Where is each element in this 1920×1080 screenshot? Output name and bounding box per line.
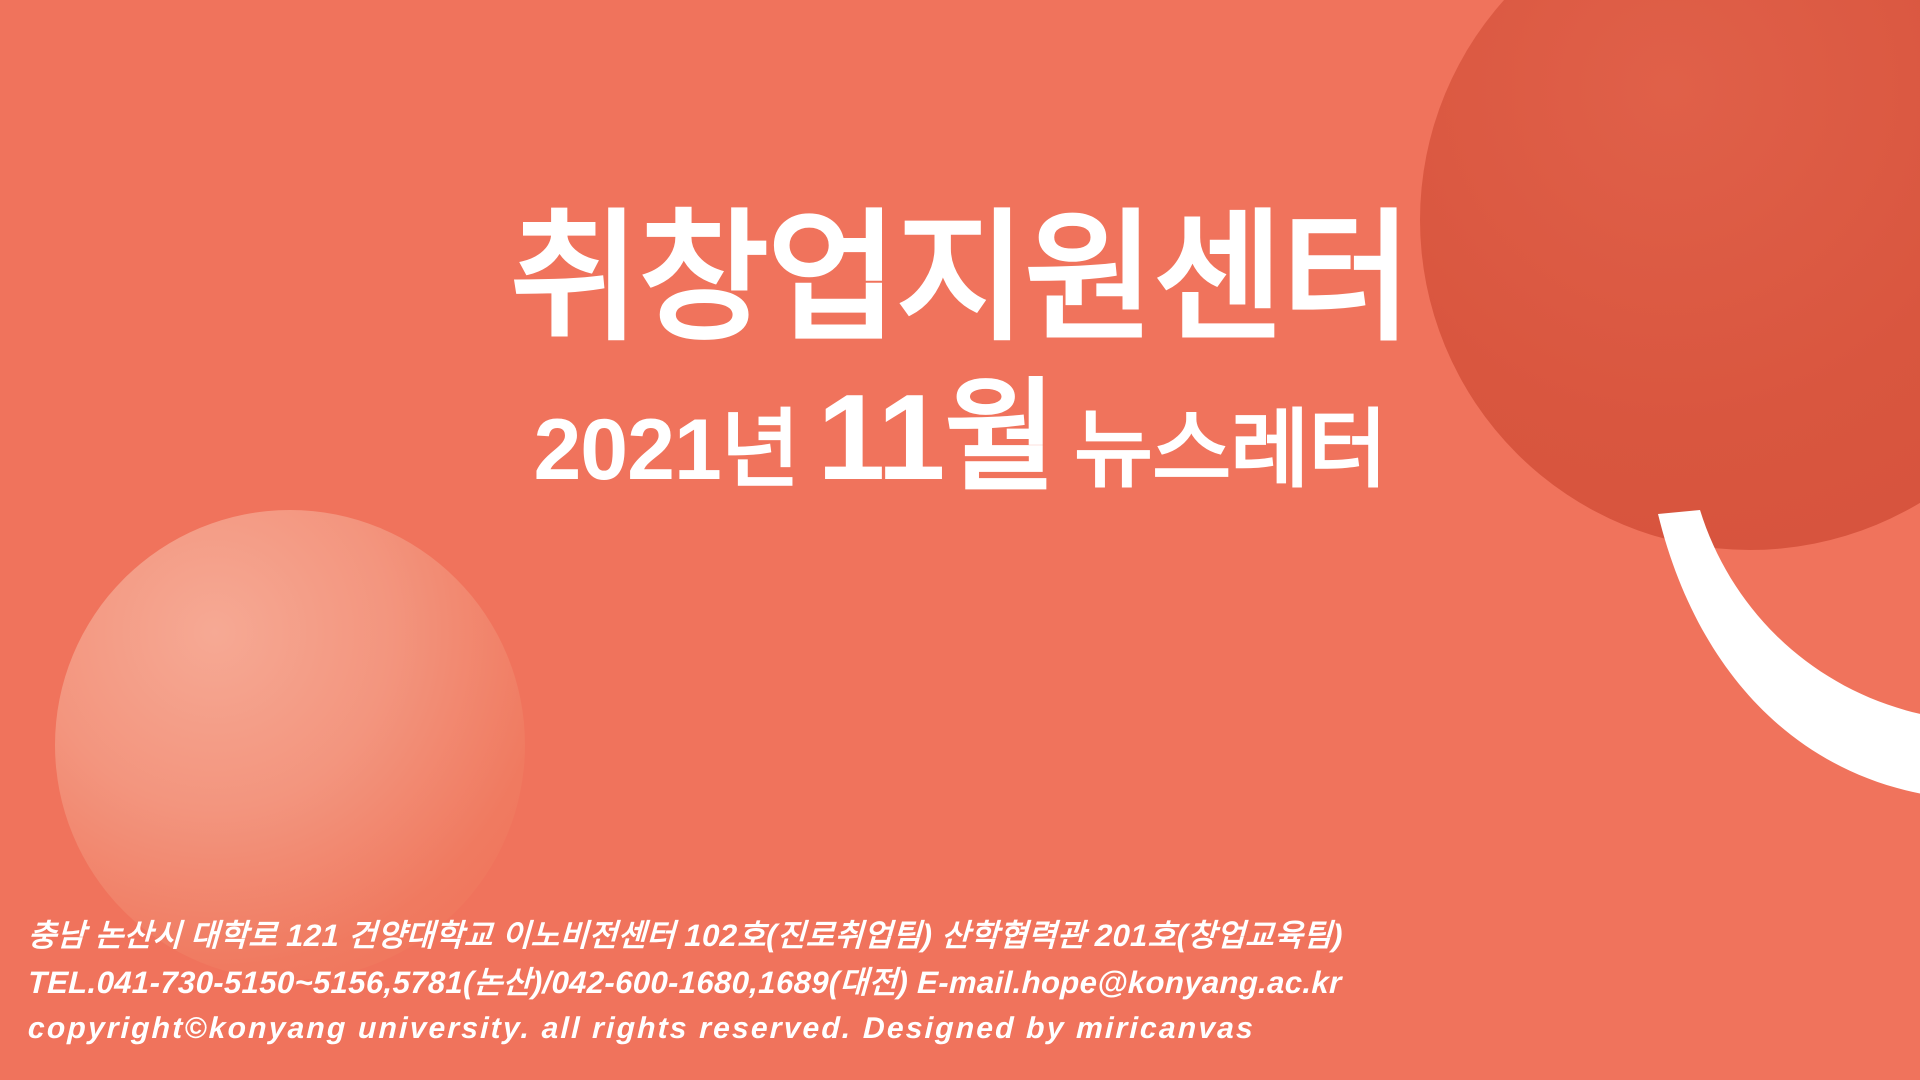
subtitle-newsletter-label: 뉴스레터 bbox=[1074, 402, 1386, 498]
light-circle-icon bbox=[55, 510, 525, 980]
white-crescent-icon bbox=[1540, 470, 1920, 810]
footer-contact: TEL.041-730-5150~5156,5781(논산)/042-600-1… bbox=[27, 959, 1903, 1006]
newsletter-poster: 취창업지원센터 2021년 11월 뉴스레터 충남 논산시 대학로 121 건양… bbox=[0, 0, 1920, 1080]
subtitle-year: 2021년 bbox=[533, 402, 798, 498]
footer-address: 충남 논산시 대학로 121 건양대학교 이노비전센터 102호(진로취업팀) … bbox=[27, 912, 1903, 959]
subtitle-month: 11월 bbox=[803, 369, 1069, 505]
footer: 충남 논산시 대학로 121 건양대학교 이노비전센터 102호(진로취업팀) … bbox=[28, 912, 1902, 1052]
subtitle-row: 2021년 11월 뉴스레터 bbox=[0, 376, 1920, 498]
footer-copyright: copyright©konyang university. all rights… bbox=[27, 1006, 1903, 1052]
page-title: 취창업지원센터 bbox=[0, 208, 1920, 350]
headline-block: 취창업지원센터 2021년 11월 뉴스레터 bbox=[0, 208, 1920, 498]
